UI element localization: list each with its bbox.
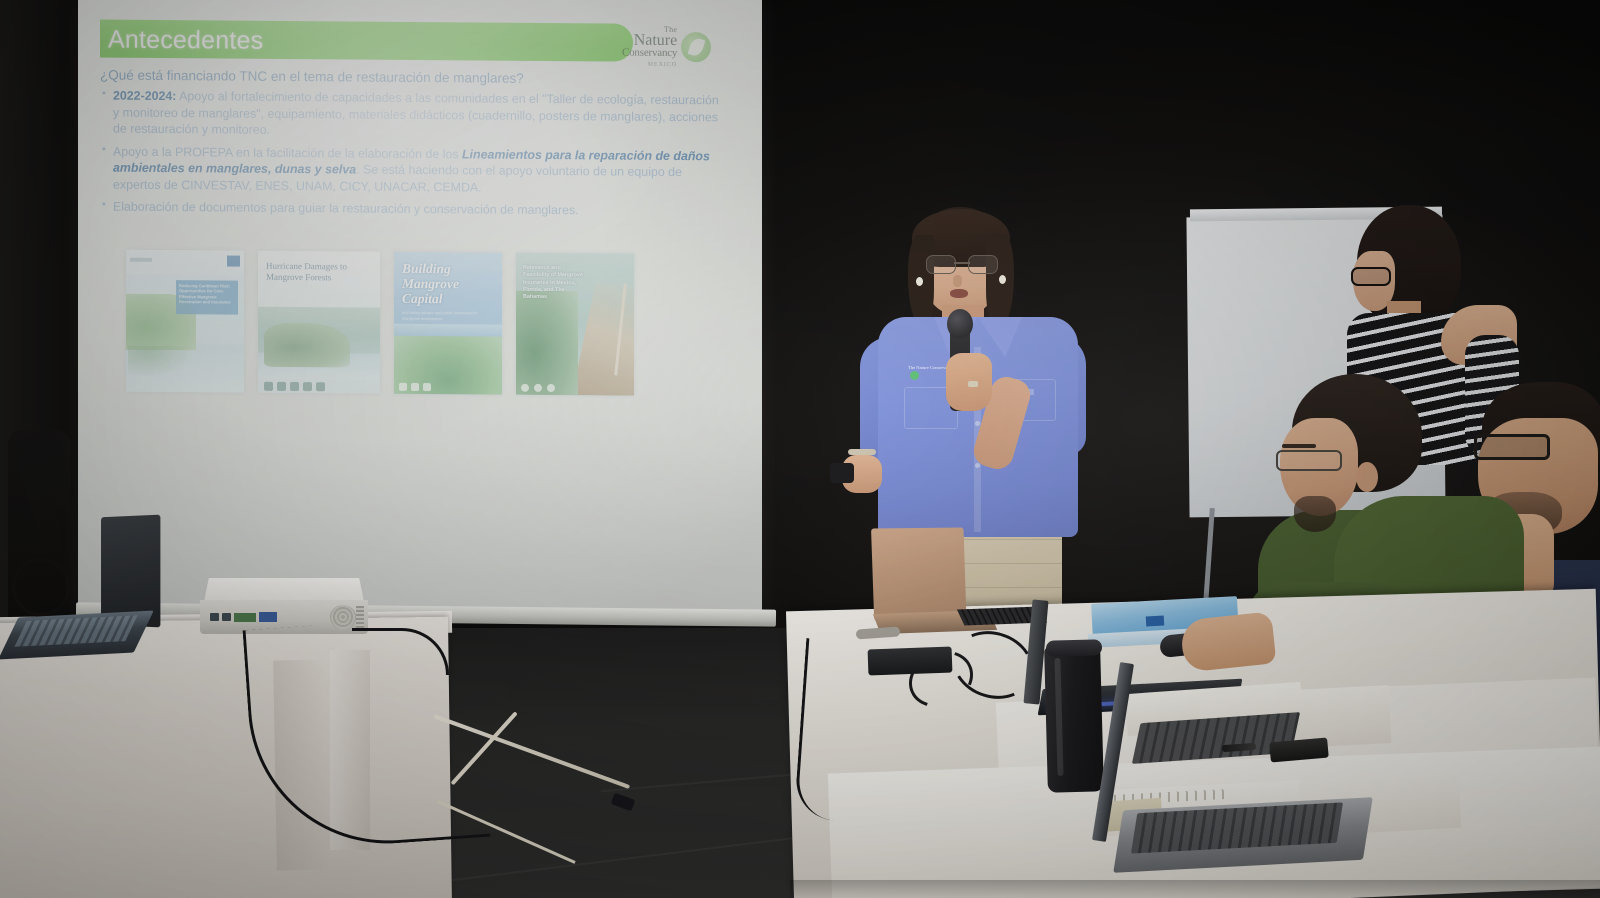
partner-logo (399, 383, 407, 391)
cover-logo-bar (130, 258, 152, 262)
partner-logo (277, 382, 286, 391)
lens-right (968, 255, 998, 274)
presentation-room-photo: Antecedentes The Nature Conservancy MEXI… (0, 0, 1600, 898)
hanging-cable (794, 638, 869, 822)
thumbnail-mangrove-insurance: Relevance and Feasibility of Mangrove In… (516, 253, 634, 396)
cover-logo-square (227, 255, 240, 266)
partner-logo (303, 382, 312, 391)
lens-left (926, 255, 956, 274)
ear (1356, 462, 1378, 492)
earring (999, 275, 1006, 284)
port (222, 613, 231, 621)
microphone-head (947, 309, 973, 339)
thumbnail-hurricane-damages: Hurricane Damages to Mangrove Forests (258, 251, 380, 394)
eyebrow (1282, 444, 1316, 448)
slide-bullet-item: Elaboración de documentos para guiar la … (100, 198, 720, 219)
port (210, 613, 219, 621)
partner-logo (290, 382, 299, 391)
partner-logo (411, 383, 419, 391)
beard (1294, 496, 1336, 532)
presentation-clicker (830, 463, 854, 483)
cover-partner-logos (521, 384, 555, 392)
ring (968, 381, 978, 387)
thumbnail-title: Relevance and Feasibility of Mangrove In… (523, 265, 587, 302)
slide-bullet-item: 2022-2024: Apoyo al fortalecimiento de c… (100, 87, 720, 141)
partner-logo (521, 384, 529, 392)
partner-logo (534, 384, 542, 392)
slide-bullet-list: 2022-2024: Apoyo al fortalecimiento de c… (100, 87, 720, 225)
bullet-pre-text: Apoyo a la PROFEPA en la facilitación de… (113, 144, 462, 161)
tnc-logo-conservancy: Conservancy (622, 48, 677, 59)
thumbnail-title: Reducing Caribbean Risk: Opportunities f… (176, 280, 238, 305)
tumbler-lid[interactable] (1046, 639, 1102, 656)
projector-ports (210, 606, 306, 628)
cover-partner-logos (399, 383, 431, 391)
tumbler-bottle[interactable] (1044, 645, 1104, 792)
bullet-body-text: Elaboración de documentos para guiar la … (113, 200, 579, 218)
mouth (950, 289, 968, 298)
earring (916, 277, 923, 286)
presenter-shirt: The Nature Conservancy (878, 317, 1078, 537)
port-vga (259, 612, 277, 622)
floor-seam (431, 830, 848, 883)
projector-top (204, 578, 364, 602)
slide-question: ¿Qué está financiando TNC en el tema de … (100, 67, 700, 89)
table-shadow (790, 880, 1600, 898)
cover-title-box: Reducing Caribbean Risk: Opportunities f… (176, 280, 238, 314)
bullet-body-text: Apoyo al fortalecimiento de capacidades … (113, 89, 719, 137)
collar (978, 317, 1022, 357)
thumbnail-title: Building Mangrove Capital (402, 262, 492, 307)
thumbnail-building-mangrove-capital: Building Mangrove Capital Increasing pri… (394, 252, 502, 395)
cover-top-logos (130, 254, 240, 267)
cover-foliage (516, 291, 578, 395)
publication-thumbnails: Reducing Caribbean Risk: Opportunities f… (126, 250, 746, 400)
screen-surface: Antecedentes The Nature Conservancy MEXI… (78, 0, 762, 612)
partner-logo (316, 382, 325, 391)
partner-logo (264, 382, 273, 391)
tnc-leaf-icon (910, 371, 919, 380)
projected-slide: Antecedentes The Nature Conservancy MEXI… (82, 3, 758, 398)
thumbnail-subtitle: Increasing private and public investment… (402, 310, 490, 322)
laptop-rose-gold-lid[interactable] (871, 528, 966, 621)
port-green (234, 613, 256, 622)
slide-bullet-item: Apoyo a la PROFEPA en la facilitación de… (100, 143, 720, 197)
partner-logo (547, 384, 555, 392)
projection-screen: Antecedentes The Nature Conservancy MEXI… (78, 0, 762, 625)
tnc-wordmark: The Nature Conservancy MEXICO (622, 26, 677, 68)
partner-logo (423, 383, 431, 391)
chair-silhouette (8, 430, 70, 640)
thumbnail-title: Hurricane Damages to Mangrove Forests (266, 261, 362, 284)
tnc-logo-region: MEXICO (648, 62, 678, 68)
glasses-icon (926, 255, 998, 272)
tnc-logo: The Nature Conservancy MEXICO (622, 22, 730, 73)
cover-partner-logos (264, 382, 325, 391)
glasses-icon (1276, 450, 1342, 471)
nose (953, 275, 962, 287)
tnc-leaf-icon (681, 32, 711, 62)
folder-label (1146, 616, 1164, 627)
cover-trees (264, 323, 350, 368)
slide-title: Antecedentes (108, 26, 263, 56)
thumbnail-reducing-caribbean-risk: Reducing Caribbean Risk: Opportunities f… (126, 250, 244, 393)
glasses-icon (1351, 267, 1391, 286)
bullet-lead-text: 2022-2024: (113, 89, 176, 103)
cover-reflection (128, 346, 192, 377)
